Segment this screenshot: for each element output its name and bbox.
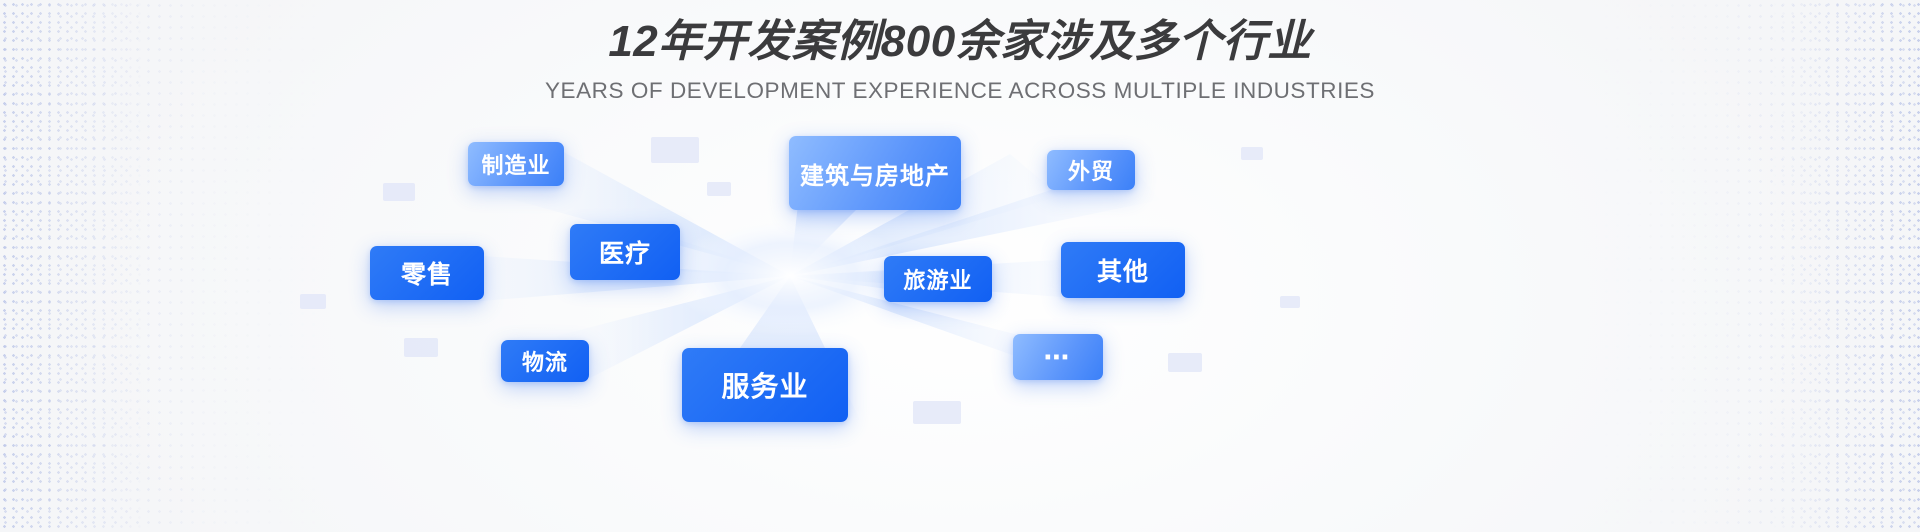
deco-rect-9 bbox=[1280, 296, 1300, 308]
chip-foreign-trade[interactable]: 外贸 bbox=[1047, 150, 1135, 190]
deco-rect-8 bbox=[1241, 147, 1263, 160]
chip-other[interactable]: 其他 bbox=[1061, 242, 1185, 298]
chip-construction[interactable]: 建筑与房地产 bbox=[789, 136, 961, 210]
chip-service[interactable]: 服务业 bbox=[682, 348, 848, 422]
page-title: 12年开发案例800余家涉及多个行业 bbox=[0, 14, 1920, 69]
deco-rect-6 bbox=[913, 401, 961, 424]
chip-retail[interactable]: 零售 bbox=[370, 246, 484, 300]
deco-rect-4 bbox=[300, 294, 326, 309]
deco-rect-1 bbox=[651, 137, 699, 163]
chip-more[interactable]: ⋯ bbox=[1013, 334, 1103, 380]
chip-logistics[interactable]: 物流 bbox=[501, 340, 589, 382]
deco-rect-5 bbox=[404, 338, 438, 357]
heading-block: 12年开发案例800余家涉及多个行业 YEARS OF DEVELOPMENT … bbox=[0, 0, 1920, 104]
deco-rect-3 bbox=[707, 182, 731, 196]
chip-healthcare[interactable]: 医疗 bbox=[570, 224, 680, 280]
chip-tourism[interactable]: 旅游业 bbox=[884, 256, 992, 302]
chip-manufacturing[interactable]: 制造业 bbox=[468, 142, 564, 186]
page-subtitle: YEARS OF DEVELOPMENT EXPERIENCE ACROSS M… bbox=[0, 78, 1920, 104]
hero-banner: 12年开发案例800余家涉及多个行业 YEARS OF DEVELOPMENT … bbox=[0, 0, 1920, 532]
deco-rect-7 bbox=[1168, 353, 1202, 372]
deco-rect-2 bbox=[383, 183, 415, 201]
